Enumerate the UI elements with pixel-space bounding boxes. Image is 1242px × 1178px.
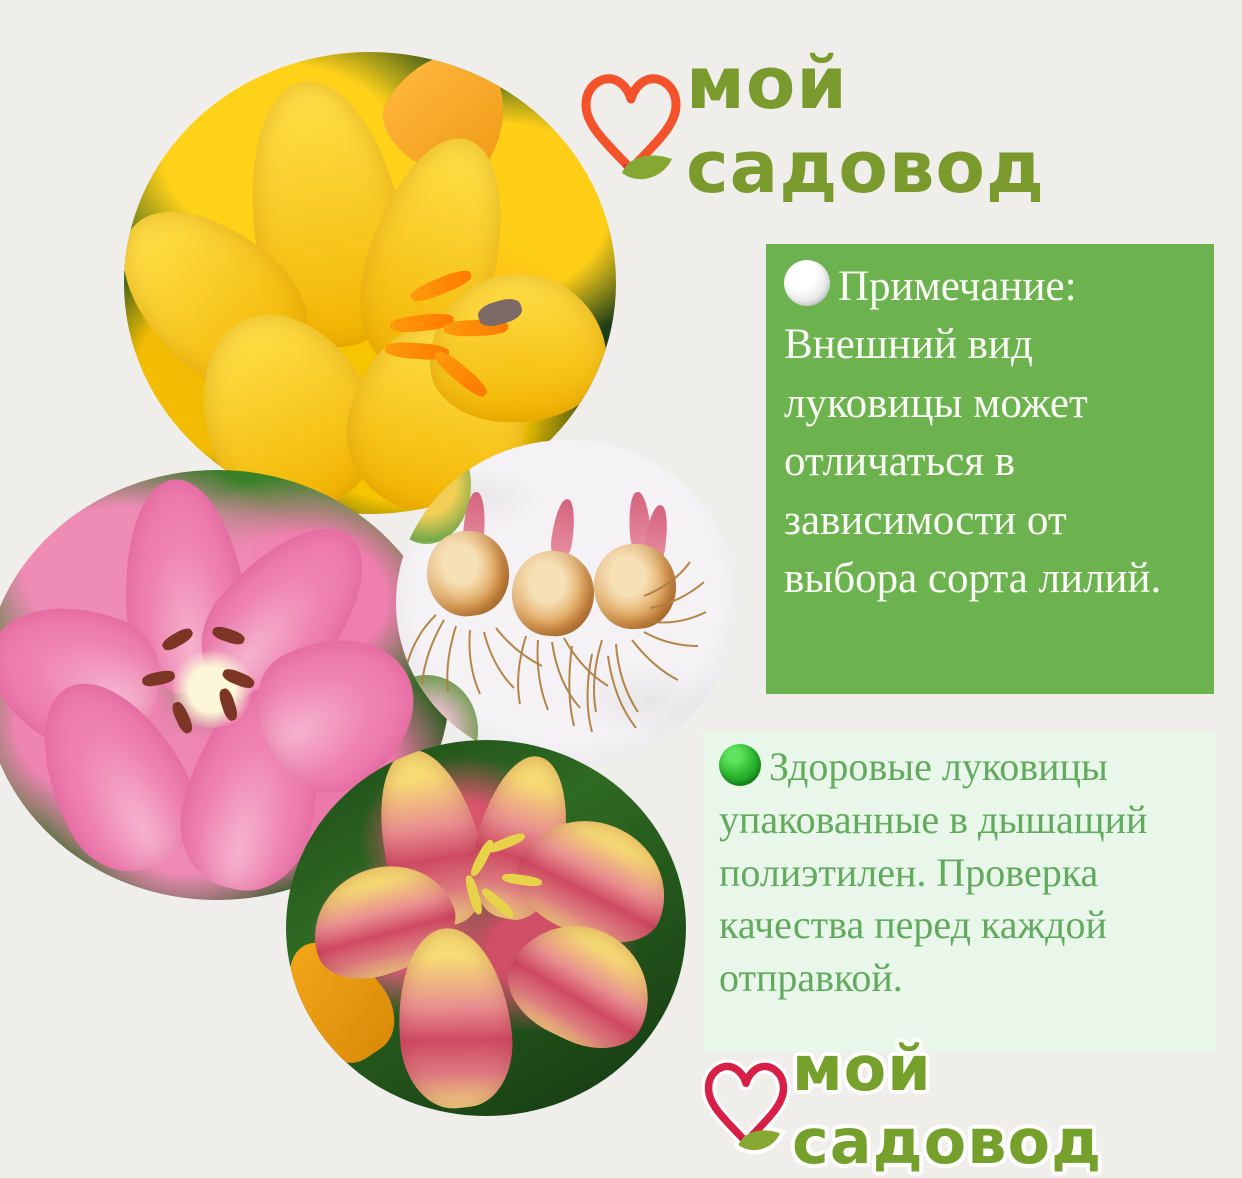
- note-box-light: Здоровые луковицы упакованные в дышащий …: [703, 731, 1216, 1051]
- photo-lily-bulbs: [396, 440, 738, 766]
- heart-with-leaf-icon: [576, 65, 686, 185]
- note-green-text: Примечание: Внешний вид луковицы может о…: [784, 258, 1196, 609]
- note-green-title: Примечание:: [838, 263, 1077, 310]
- promo-canvas: мой садовод Примечание: Внешний вид луко…: [0, 0, 1242, 1164]
- white-circle-bullet-icon: [784, 260, 830, 306]
- brand-wordmark: мой садовод: [792, 1032, 1230, 1178]
- bulb-roots: [396, 440, 738, 766]
- photo-bicolor-lily: [286, 740, 686, 1116]
- brand-logo-bottom-watermark: мой садовод: [700, 1046, 1230, 1164]
- green-circle-bullet-icon: [719, 744, 761, 786]
- brand-logo-top: мой садовод: [576, 55, 1216, 195]
- note-light-body: Здоровые луковицы упакованные в дышащий …: [719, 744, 1147, 1000]
- note-green-body: Внешний вид луковицы может отличаться в …: [784, 321, 1161, 602]
- note-box-green: Примечание: Внешний вид луковицы может о…: [766, 244, 1214, 694]
- brand-wordmark: мой садовод: [686, 41, 1216, 209]
- heart-with-leaf-icon: [700, 1055, 792, 1155]
- note-light-text: Здоровые луковицы упакованные в дышащий …: [719, 741, 1202, 1005]
